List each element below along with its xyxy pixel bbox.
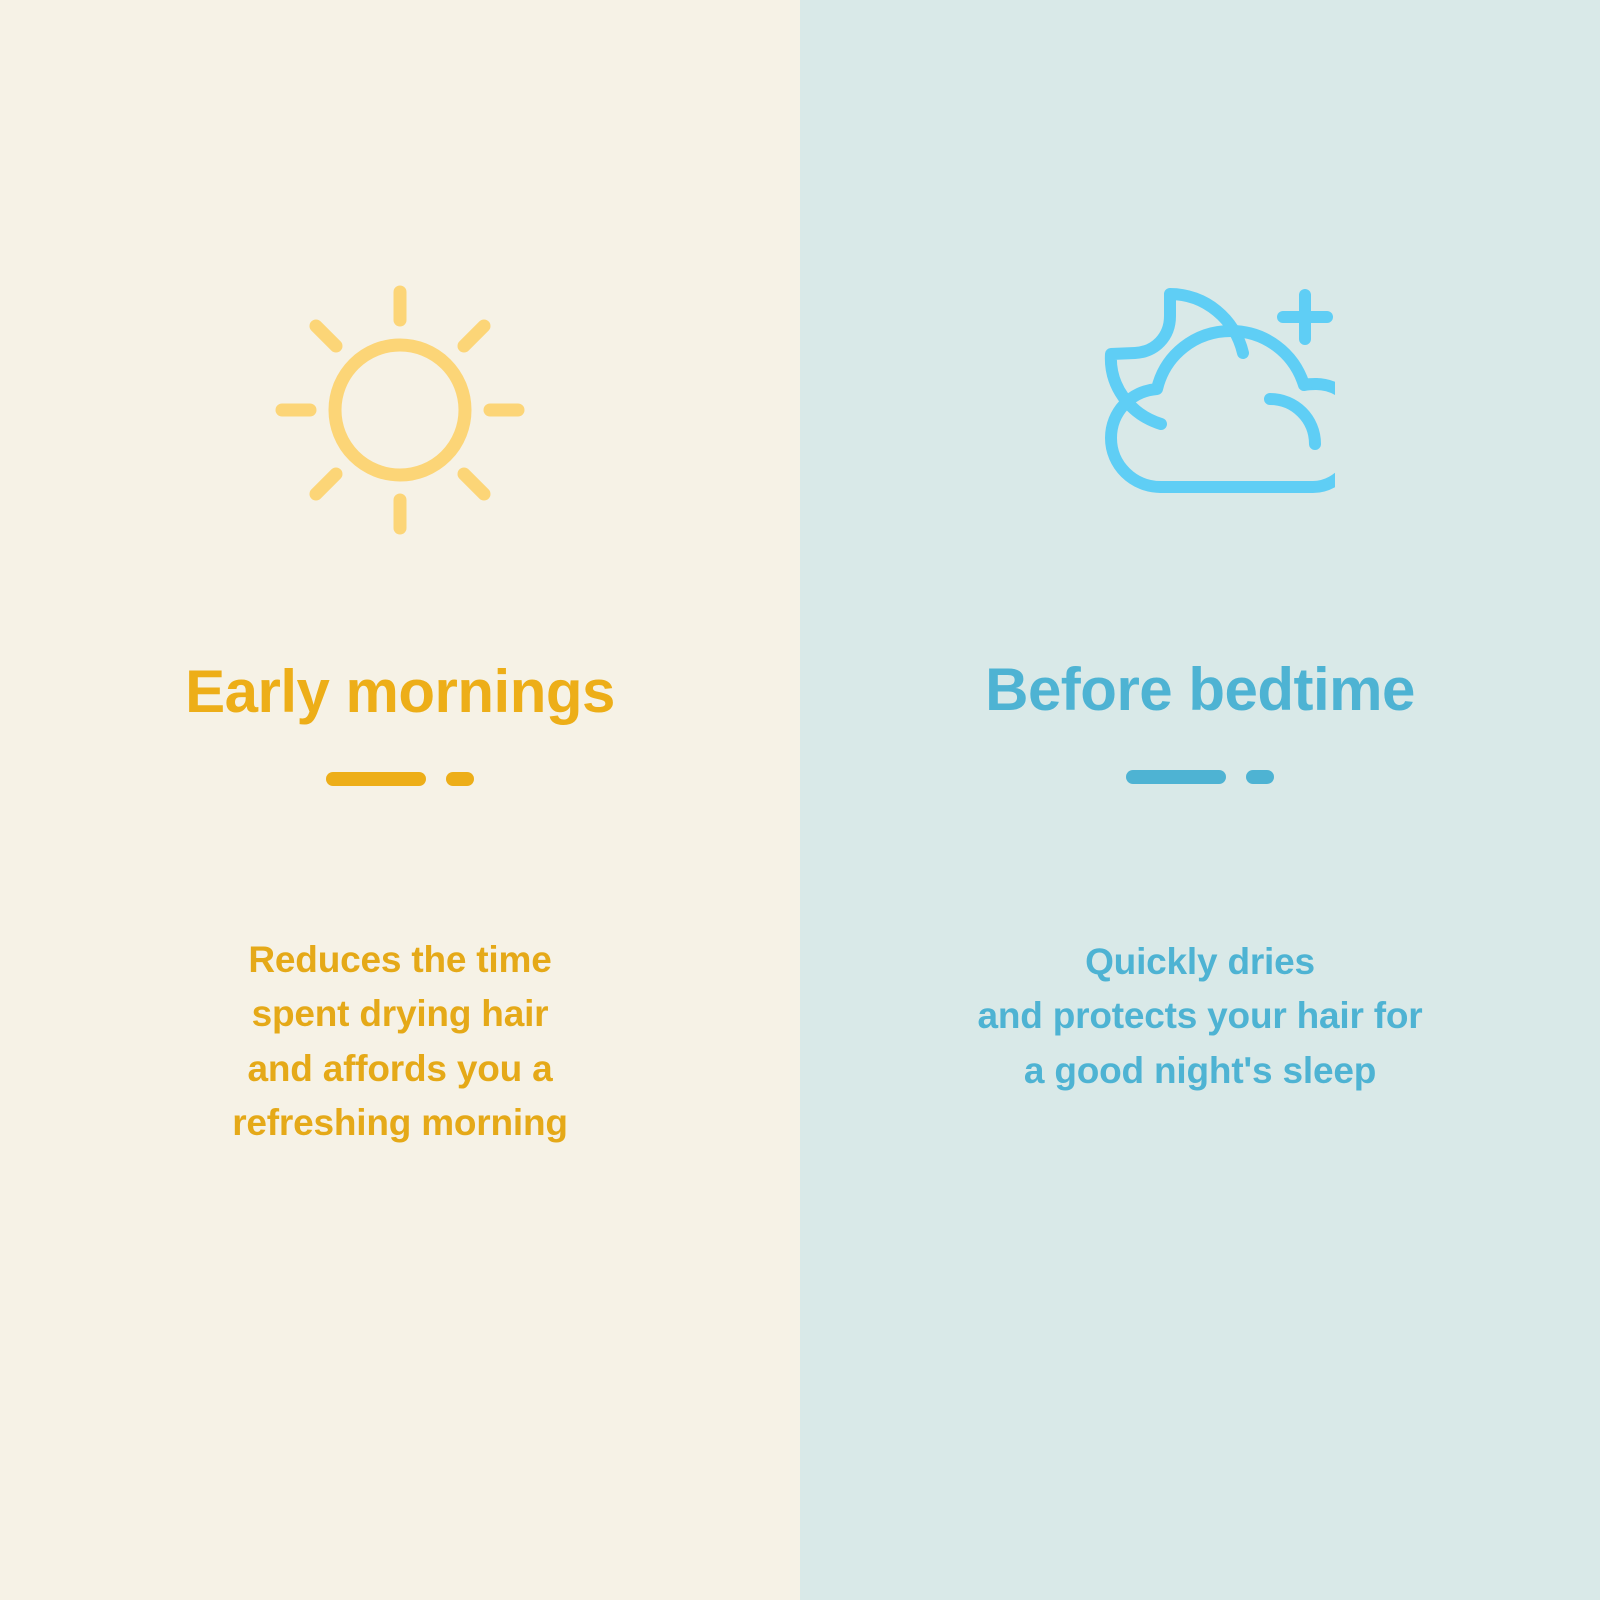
body-text-early-mornings: Reduces the time spent drying hair and a… (0, 933, 800, 1151)
body-line: Reduces the time (0, 933, 800, 987)
divider-bar-short (446, 772, 474, 786)
body-line: spent drying hair (0, 987, 800, 1041)
divider-before-bedtime (800, 770, 1600, 784)
body-line: Quickly dries (800, 935, 1600, 989)
body-line: and protects your hair for (800, 989, 1600, 1043)
page-title-before-bedtime: Before bedtime (800, 660, 1600, 720)
body-line: a good night's sleep (800, 1044, 1600, 1098)
body-line: and affords you a (0, 1042, 800, 1096)
comparison-layout: Early mornings Reduces the time spent dr… (0, 0, 1600, 1600)
divider-bar-long (326, 772, 426, 786)
body-text-before-bedtime: Quickly dries and protects your hair for… (800, 935, 1600, 1098)
panel-before-bedtime: Before bedtime Quickly dries and protect… (800, 0, 1600, 1600)
divider-early-mornings (0, 772, 800, 786)
page-title-early-mornings: Early mornings (0, 662, 800, 722)
divider-bar-short (1246, 770, 1274, 784)
body-line: refreshing morning (0, 1096, 800, 1150)
sun-icon (0, 280, 800, 540)
panel-early-mornings: Early mornings Reduces the time spent dr… (0, 0, 800, 1600)
moon-cloud-plus-icon (800, 275, 1600, 505)
divider-bar-long (1126, 770, 1226, 784)
